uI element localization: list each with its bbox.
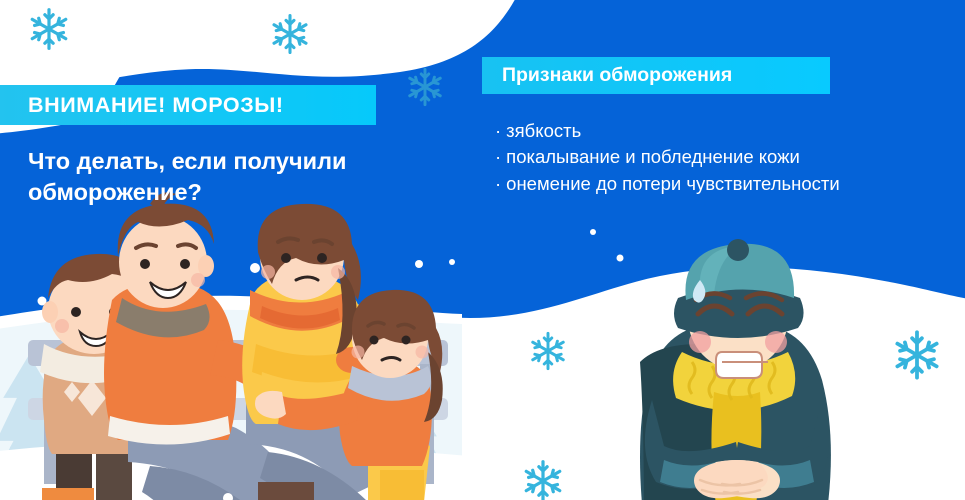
list-item: ·зябкость [495, 118, 955, 144]
attention-banner: ВНИМАНИЕ! МОРОЗЫ! [0, 85, 376, 125]
page-title-line-1: Что делать, если получили [28, 146, 428, 177]
list-item: ·покалывание и побледнение кожи [495, 144, 955, 170]
poster-root: ВНИМАНИЕ! МОРОЗЫ! Что делать, если получ… [0, 0, 965, 500]
list-item-label: онемение до потери чувствительности [506, 173, 840, 194]
bullet-glyph: · [495, 173, 501, 194]
list-item: ·онемение до потери чувствительности [495, 171, 955, 197]
bullet-glyph: · [495, 146, 501, 167]
signs-banner-label: Признаки обморожения [502, 64, 732, 87]
page-title-line-2: обморожение? [28, 177, 428, 208]
signs-banner: Признаки обморожения [482, 57, 830, 94]
signs-list: ·зябкость ·покалывание и побледнение кож… [495, 118, 955, 197]
list-item-label: зябкость [506, 120, 581, 141]
bullet-glyph: · [495, 120, 501, 141]
attention-banner-label: ВНИМАНИЕ! МОРОЗЫ! [28, 93, 284, 118]
list-item-label: покалывание и побледнение кожи [506, 146, 800, 167]
page-title: Что делать, если получили обморожение? [28, 146, 428, 209]
